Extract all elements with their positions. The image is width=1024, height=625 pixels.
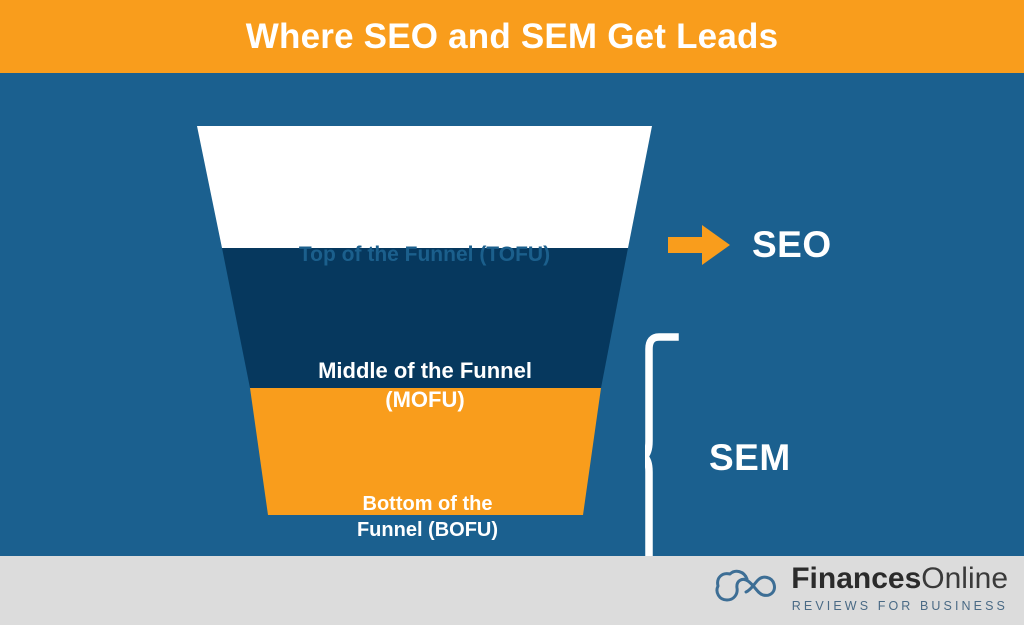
brand-logo[interactable]: FinancesOnline REVIEWS FOR BUSINESS: [713, 564, 1008, 613]
logo-text: FinancesOnline REVIEWS FOR BUSINESS: [791, 564, 1008, 613]
infographic-canvas: Where SEO and SEM Get Leads Top of the F…: [0, 0, 1024, 625]
sem-label: SEM: [709, 435, 791, 479]
funnel-stage-bofu[interactable]: [250, 388, 601, 515]
right-arrow-icon: [668, 223, 730, 267]
seo-annotation: SEO: [668, 223, 832, 267]
funnel-stage-mofu[interactable]: [222, 248, 628, 388]
logo-name-light: Online: [921, 562, 1008, 595]
seo-label: SEO: [752, 224, 832, 266]
logo-tagline: REVIEWS FOR BUSINESS: [792, 600, 1008, 613]
footer-band: FinancesOnline REVIEWS FOR BUSINESS: [0, 556, 1024, 625]
page-title: Where SEO and SEM Get Leads: [246, 17, 778, 57]
curly-brace-icon: [645, 333, 679, 580]
sem-annotation: SEM: [645, 333, 791, 580]
funnel-stage-tofu[interactable]: [197, 126, 652, 248]
cloud-infinity-icon: [713, 566, 779, 610]
logo-name-bold: Finances: [791, 562, 921, 595]
logo-wordmark: FinancesOnline: [791, 564, 1008, 594]
chart-area: Top of the Funnel (TOFU) Middle of the F…: [0, 73, 1024, 556]
funnel-diagram: [0, 73, 1024, 556]
header-band: Where SEO and SEM Get Leads: [0, 0, 1024, 73]
